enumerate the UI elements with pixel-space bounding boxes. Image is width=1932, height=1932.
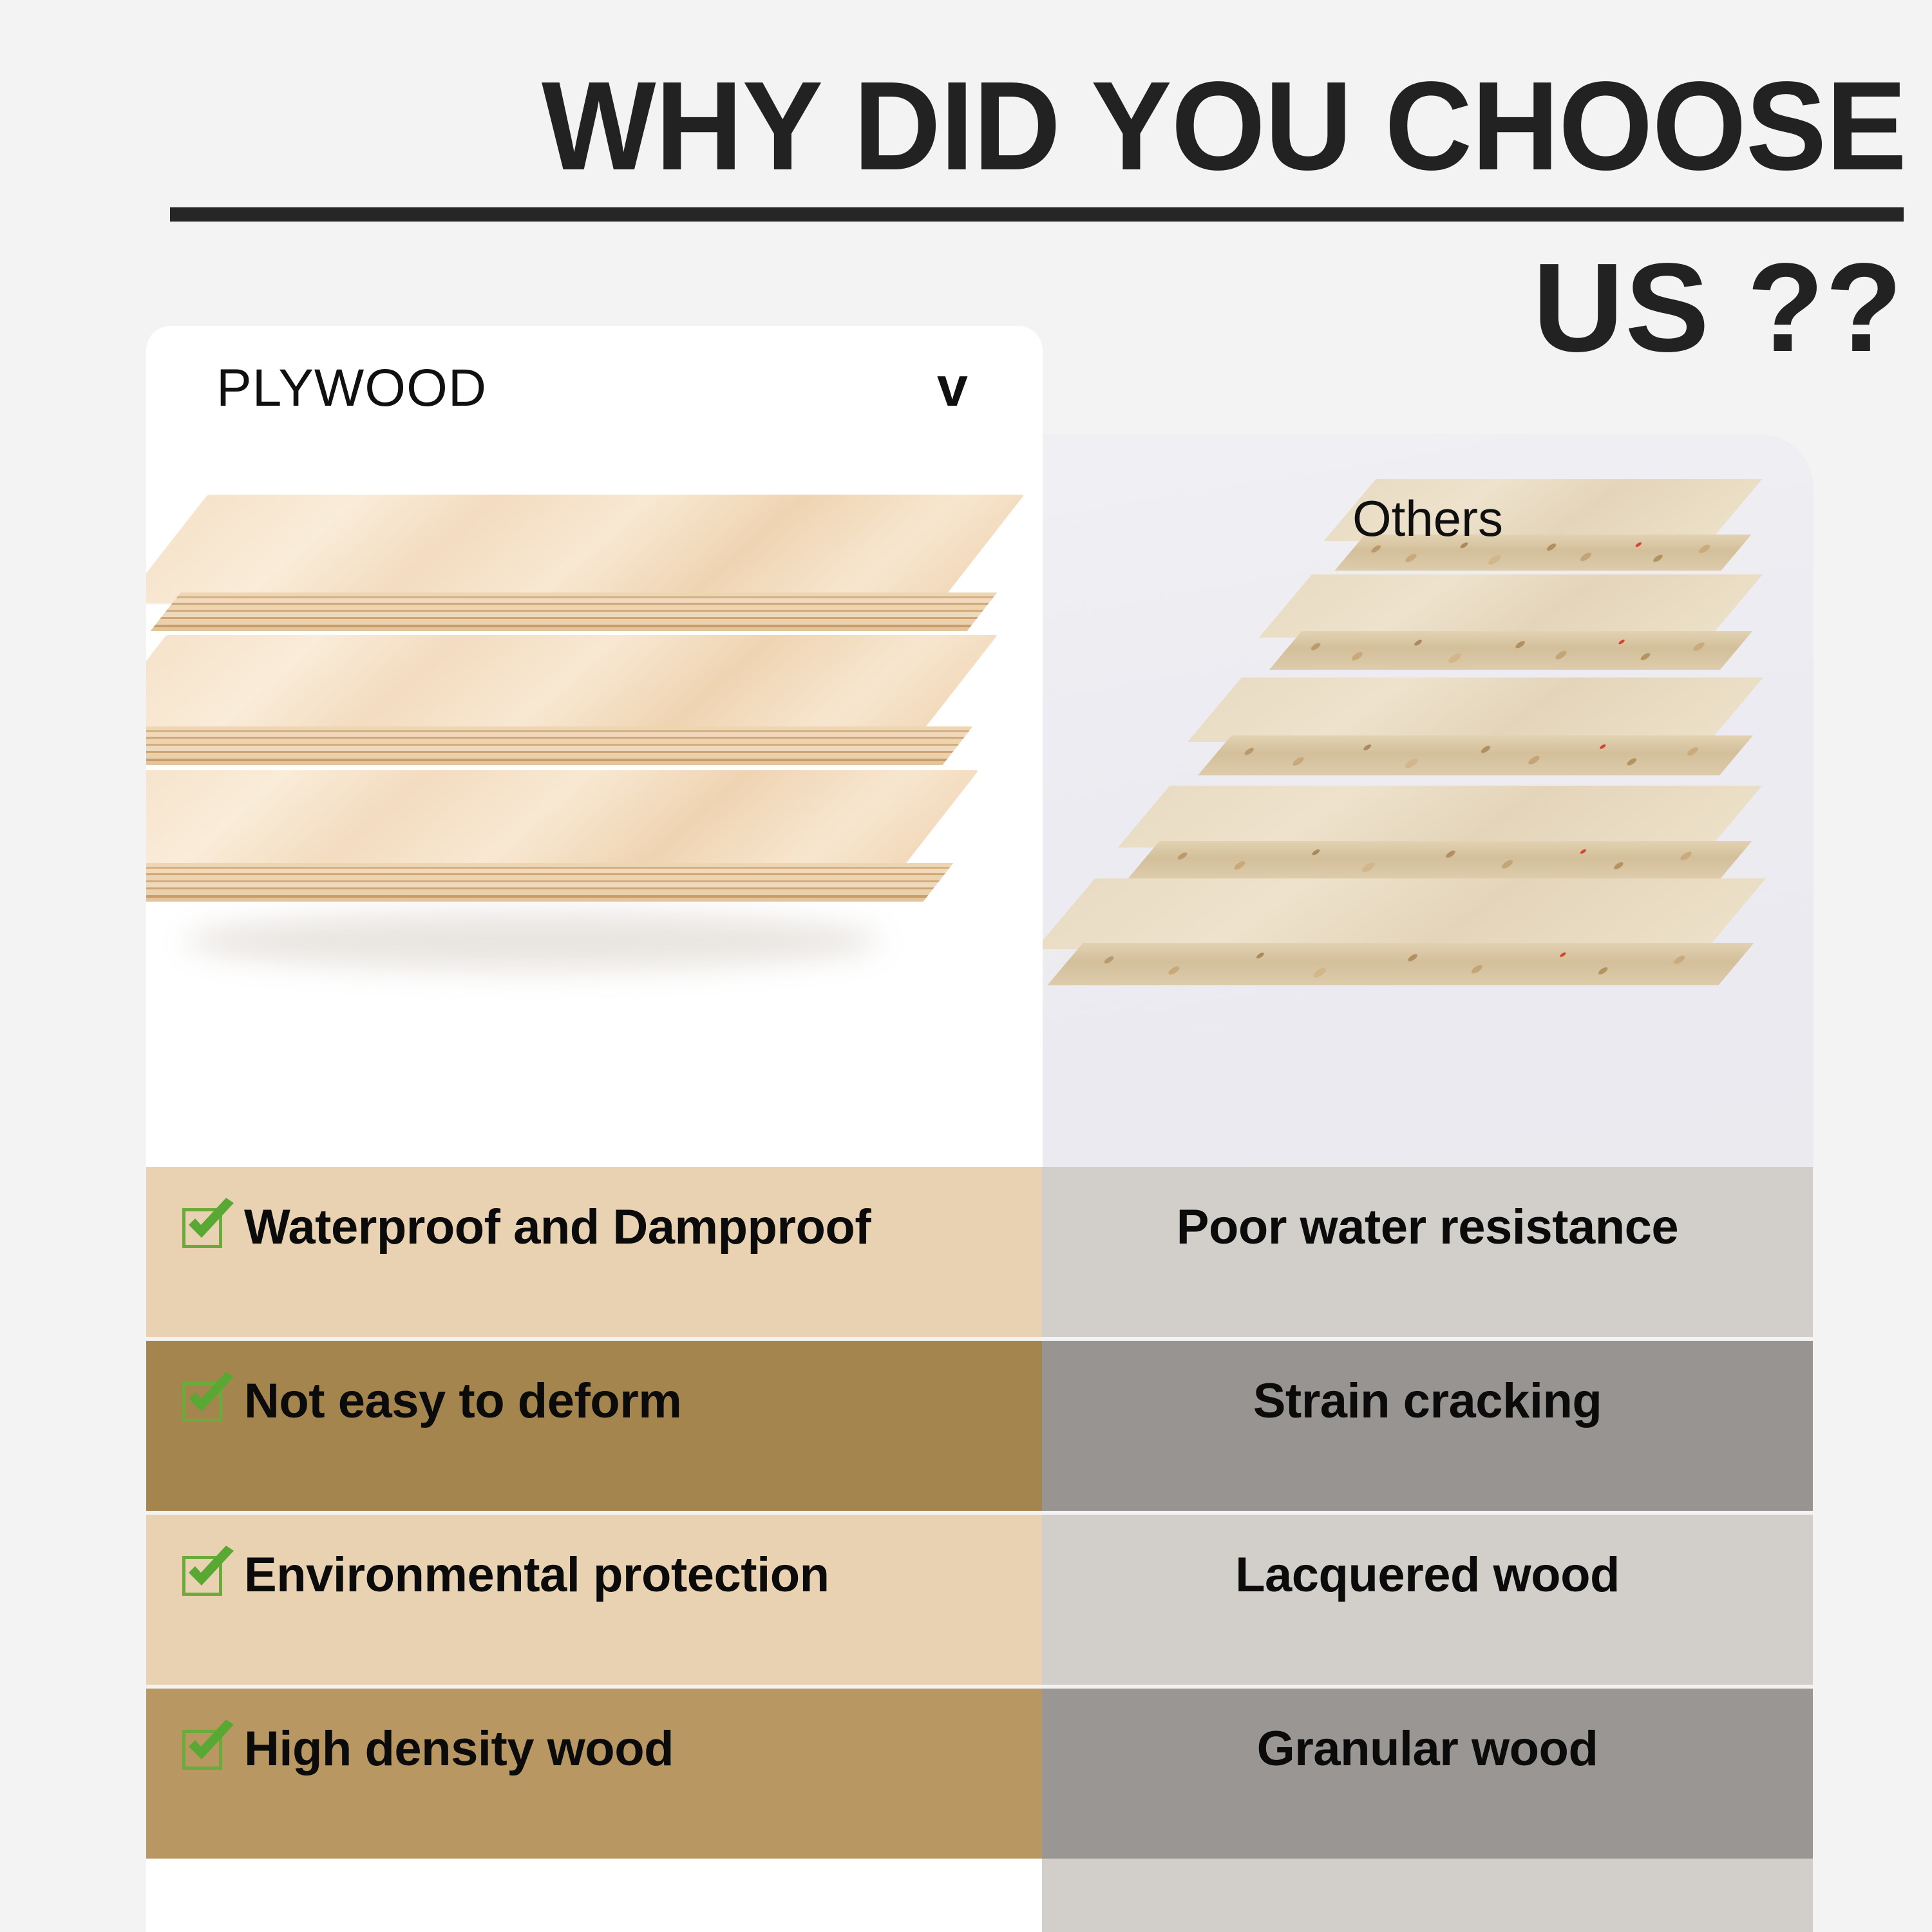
checkbox-checked-icon (180, 1552, 227, 1600)
comparison-cell-plywood: High density wood (146, 1689, 1042, 1859)
others-column-bleed (1042, 1859, 1813, 1932)
comparison-cell-plywood: Not easy to deform (146, 1341, 1042, 1511)
page-title-line-2: US ?? (1533, 243, 1904, 372)
comparison-text-others: Lacquered wood (1235, 1551, 1620, 1600)
table-row: Environmental protection Lacquered wood (146, 1515, 1813, 1685)
comparison-cell-others: Lacquered wood (1042, 1515, 1813, 1685)
chevron-down-icon: v (937, 355, 968, 419)
plywood-sheet (166, 495, 982, 591)
checkbox-checked-icon (180, 1378, 227, 1426)
plywood-drop-shadow (185, 912, 880, 970)
table-row: Waterproof and Dampproof Poor water resi… (146, 1167, 1813, 1337)
plywood-label: PLYWOOD (216, 358, 487, 419)
checkbox-checked-icon (180, 1726, 227, 1774)
table-row: High density wood Granular wood (146, 1689, 1813, 1859)
comparison-text-plywood: High density wood (244, 1725, 674, 1774)
comparison-table: Waterproof and Dampproof Poor water resi… (146, 1167, 1813, 1932)
infographic-canvas: WHY DID YOU CHOOSE US ?? (0, 0, 1932, 1932)
title-underline-rule (170, 207, 1904, 222)
checkbox-checked-icon (180, 1204, 227, 1252)
comparison-text-plywood: Waterproof and Dampproof (244, 1203, 871, 1252)
plywood-panel (146, 326, 1043, 1168)
page-title: WHY DID YOU CHOOSE (237, 62, 1906, 191)
comparison-text-others: Granular wood (1257, 1725, 1598, 1774)
comparison-text-plywood: Not easy to deform (244, 1377, 681, 1426)
page-title-line-1: WHY DID YOU CHOOSE (237, 62, 1906, 191)
others-label: Others (1042, 489, 1814, 548)
comparison-text-plywood: Environmental protection (244, 1551, 829, 1600)
plywood-column-bleed (146, 1859, 1042, 1932)
comparison-cell-others: Strain cracking (1042, 1341, 1813, 1511)
plywood-image (146, 422, 1043, 1168)
comparison-cell-others: Poor water resistance (1042, 1167, 1813, 1337)
table-row: Not easy to deform Strain cracking (146, 1341, 1813, 1511)
plywood-sheet (146, 770, 938, 867)
comparison-text-others: Strain cracking (1253, 1377, 1602, 1426)
comparison-cell-plywood: Waterproof and Dampproof (146, 1167, 1042, 1337)
comparison-cell-plywood: Environmental protection (146, 1515, 1042, 1685)
comparison-cell-others: Granular wood (1042, 1689, 1813, 1859)
comparison-text-others: Poor water resistance (1177, 1203, 1678, 1252)
plywood-sheet (146, 635, 958, 732)
